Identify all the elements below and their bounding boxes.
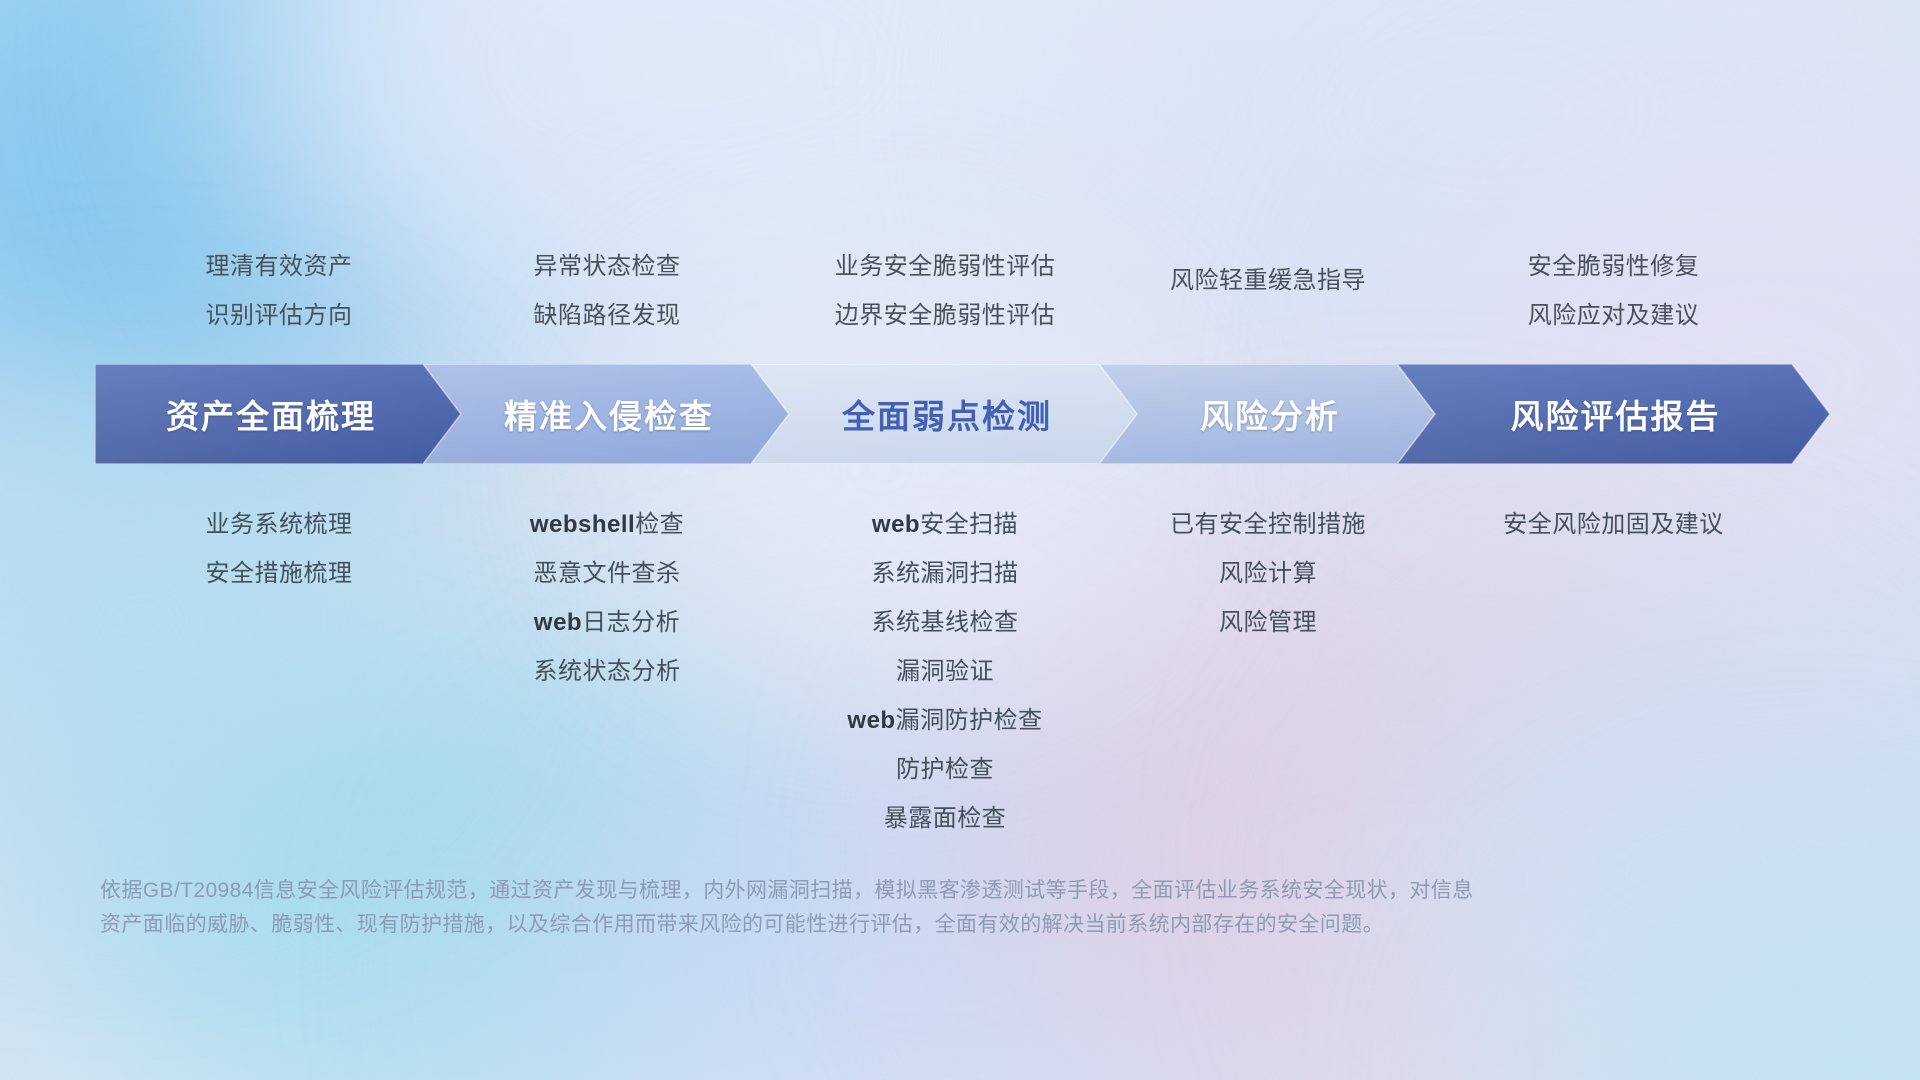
footer-note: 依据GB/T20984信息安全风险评估规范，通过资产发现与梳理，内外网漏洞扫描，… [100, 874, 1700, 942]
task-keyword: web [534, 609, 582, 636]
task-text: 恶意文件查杀 [534, 560, 681, 587]
chevron-stage-4[interactable]: 风险分析 [1099, 364, 1437, 464]
task-text: 安全措施梳理 [206, 560, 353, 587]
chevron-title-4: 风险分析 [1200, 390, 1340, 438]
task-text: 日志分析 [582, 609, 680, 636]
chevron-title-1: 资产全面梳理 [166, 390, 376, 438]
task-text: 暴露面检查 [884, 805, 1007, 832]
chevron-stage-5[interactable]: 风险评估报告 [1397, 364, 1830, 464]
task-text: 漏洞验证 [896, 658, 994, 685]
stage-5-task-item: 安全风险加固及建议 [1354, 500, 1874, 549]
task-text: 安全扫描 [920, 511, 1018, 538]
chevron-stage-3[interactable]: 全面弱点检测 [751, 364, 1139, 464]
task-text: 漏洞防护检查 [896, 707, 1043, 734]
task-text: 风险管理 [1219, 609, 1317, 636]
task-keyword: web [847, 707, 895, 734]
task-text: 安全风险加固及建议 [1503, 511, 1724, 538]
task-keyword: webshell [530, 511, 635, 538]
stage-3-task-item: web漏洞防护检查 [685, 696, 1205, 745]
stage-3-task-item: 漏洞验证 [685, 647, 1205, 696]
stage-3-task-item: 暴露面检查 [685, 794, 1205, 843]
footer-line-1: 依据GB/T20984信息安全风险评估规范，通过资产发现与梳理，内外网漏洞扫描，… [100, 874, 1700, 908]
footer-line-2: 资产面临的威胁、脆弱性、现有防护措施，以及综合作用而带来风险的可能性进行评估，全… [100, 908, 1700, 942]
task-text: 系统漏洞扫描 [872, 560, 1019, 587]
process-chevron-banner: 资产全面梳理 精准入侵检查 全面弱点检测 [95, 364, 1830, 464]
task-text: 业务系统梳理 [206, 511, 353, 538]
chevron-title-2: 精准入侵检查 [504, 390, 714, 438]
task-text: 检查 [635, 511, 684, 538]
slide-content: 理清有效资产识别评估方向业务系统梳理安全措施梳理异常状态检查缺陷路径发现webs… [0, 0, 1920, 1080]
task-text: 防护检查 [896, 756, 994, 783]
task-text: 已有安全控制措施 [1170, 511, 1366, 538]
stage-5-top-note: 风险应对及建议 [1354, 291, 1874, 340]
task-text: 系统状态分析 [534, 658, 681, 685]
chevron-stage-2[interactable]: 精准入侵检查 [423, 364, 791, 464]
chevron-title-3: 全面弱点检测 [842, 390, 1052, 438]
stage-5-top-notes: 安全脆弱性修复风险应对及建议 [1354, 242, 1874, 340]
chevron-title-5: 风险评估报告 [1511, 390, 1721, 438]
task-text: 风险计算 [1219, 560, 1317, 587]
stage-4-task-item: 风险计算 [1008, 549, 1528, 598]
stage-3-task-item: 防护检查 [685, 745, 1205, 794]
chevron-stage-1[interactable]: 资产全面梳理 [95, 364, 463, 464]
stage-4-task-item: 风险管理 [1008, 598, 1528, 647]
stage-5-top-note: 安全脆弱性修复 [1354, 242, 1874, 291]
stage-5-task-list: 安全风险加固及建议 [1354, 500, 1874, 549]
task-keyword: web [872, 511, 920, 538]
task-text: 系统基线检查 [872, 609, 1019, 636]
